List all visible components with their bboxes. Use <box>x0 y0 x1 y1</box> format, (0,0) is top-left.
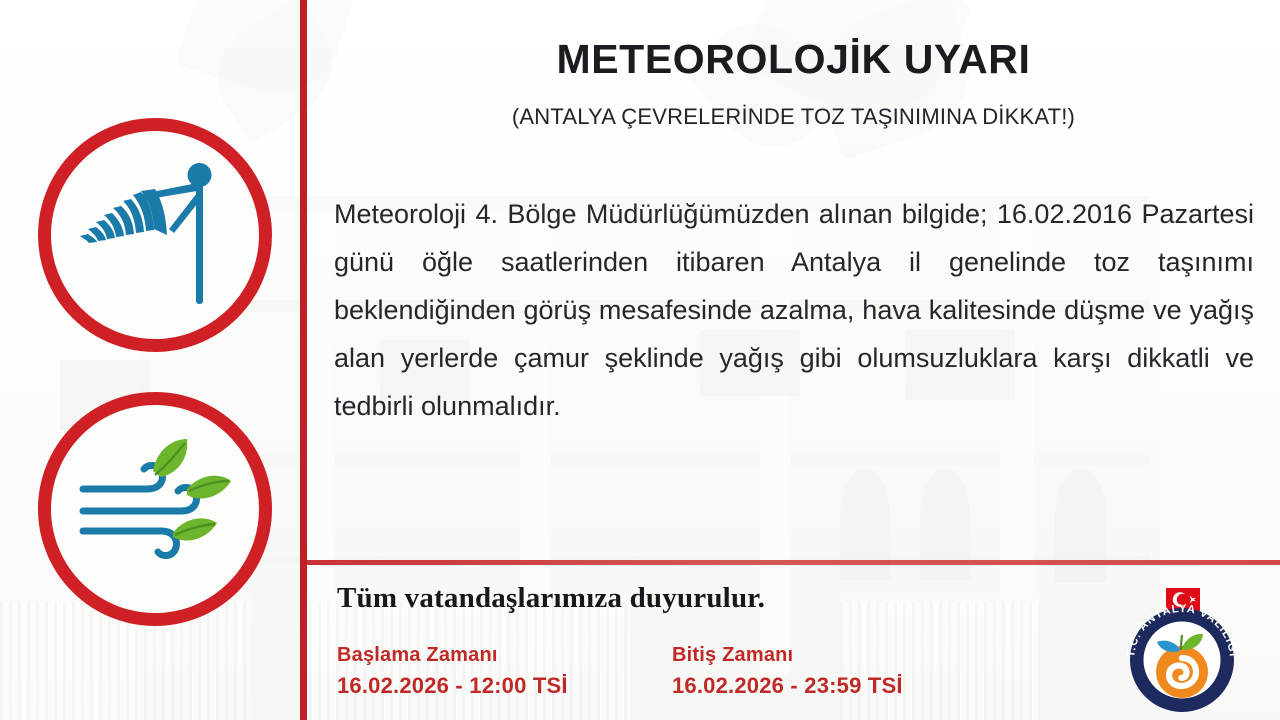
icon-column <box>0 0 300 720</box>
orange-fruit-icon <box>1156 646 1208 698</box>
windsock-icon <box>71 151 239 319</box>
dust-wind-leaves-icon <box>69 423 241 595</box>
page-title: METEOROLOJİK UYARI <box>307 36 1280 83</box>
end-time-label: Bitiş Zamanı <box>672 640 1007 670</box>
leaf-group <box>153 439 231 541</box>
start-time-label: Başlama Zamanı <box>337 640 672 670</box>
dust-wind-badge <box>38 392 272 626</box>
content-column: METEOROLOJİK UYARI (ANTALYA ÇEVRELERİNDE… <box>307 0 1280 720</box>
end-time-block: Bitiş Zamanı 16.02.2026 - 23:59 TSİ <box>672 640 1007 702</box>
windsock-badge <box>38 118 272 352</box>
end-time-value: 16.02.2026 - 23:59 TSİ <box>672 670 1007 702</box>
vertical-divider <box>300 0 307 720</box>
antalya-governorship-seal: T.C. ANTALYA VALİLİĞİ <box>1112 586 1252 718</box>
horizontal-divider <box>307 560 1280 565</box>
page-subtitle: (ANTALYA ÇEVRELERİNDE TOZ TAŞINIMINA DİK… <box>307 104 1280 130</box>
time-row: Başlama Zamanı 16.02.2026 - 12:00 TSİ Bi… <box>337 640 1037 702</box>
meteorological-warning-poster: METEOROLOJİK UYARI (ANTALYA ÇEVRELERİNDE… <box>0 0 1280 720</box>
footer: Tüm vatandaşlarımıza duyurulur. Başlama … <box>307 578 1280 720</box>
start-time-block: Başlama Zamanı 16.02.2026 - 12:00 TSİ <box>337 640 672 702</box>
warning-paragraph: Meteoroloji 4. Bölge Müdürlüğümüzden alı… <box>334 190 1254 430</box>
announcement-text: Tüm vatandaşlarımıza duyurulur. <box>337 582 765 615</box>
start-time-value: 16.02.2026 - 12:00 TSİ <box>337 670 672 702</box>
